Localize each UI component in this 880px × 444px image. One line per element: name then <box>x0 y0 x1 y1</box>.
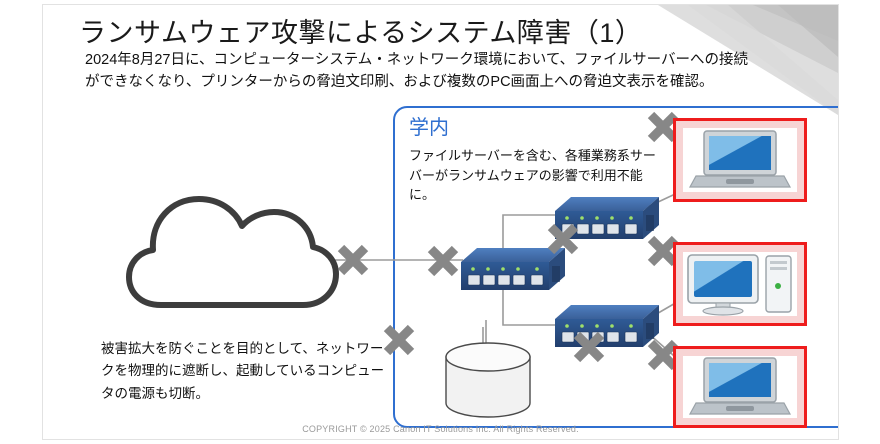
x-switch-core <box>431 249 455 273</box>
slide-canvas: ランサムウェア攻撃によるシステム障害（1） 2024年8月27日に、コンピュータ… <box>42 4 839 440</box>
link-core-lower <box>503 285 556 325</box>
pc-bottom-box <box>673 346 807 428</box>
laptop-icon <box>688 129 792 191</box>
laptop-icon <box>688 356 792 418</box>
database-icon <box>446 343 530 417</box>
copyright-footer: COPYRIGHT © 2025 Canon IT Solutions Inc.… <box>43 424 838 434</box>
switch-lower-icon <box>555 305 659 347</box>
desktop-tower-icon <box>684 252 796 316</box>
pc-middle-box <box>673 242 807 326</box>
pc-top-box <box>673 118 807 202</box>
x-database <box>387 328 411 352</box>
cloud-icon <box>129 199 336 305</box>
x-pc-top <box>651 115 675 139</box>
x-pc-middle <box>651 239 675 263</box>
link-core-upper <box>503 215 556 253</box>
switch-core-icon <box>461 248 565 290</box>
